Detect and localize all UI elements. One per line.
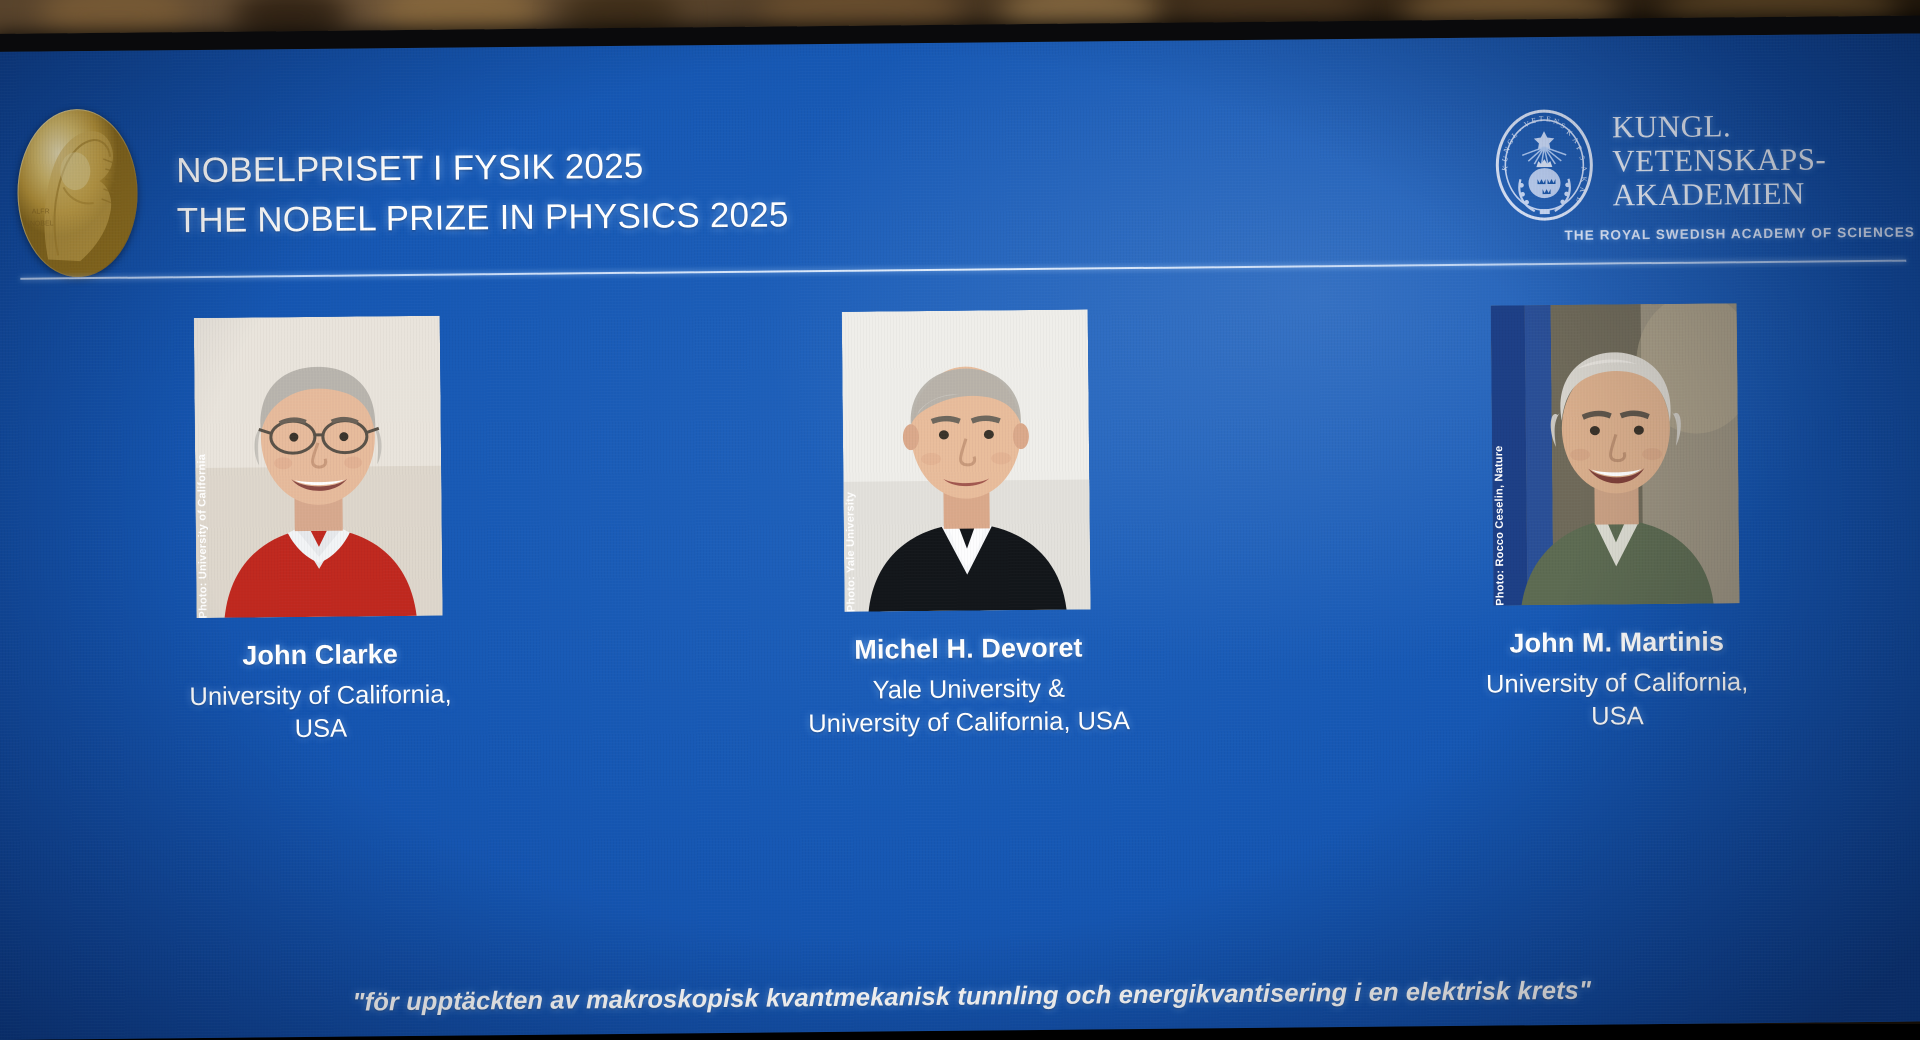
laureate-card: Photo: Rocco Ceselin, Nature John M. Mar… <box>1289 301 1920 736</box>
title-english: THE NOBEL PRIZE IN PHYSICS 2025 <box>177 190 789 246</box>
laureate-name: Michel H. Devoret <box>854 633 1083 666</box>
header-divider <box>20 260 1906 280</box>
academy-name-line1: KUNGL. <box>1612 108 1826 144</box>
laureate-affiliation-line2: USA <box>190 712 452 748</box>
svg-text:N: N <box>1552 116 1560 126</box>
academy-name-line2: VETENSKAPS- <box>1612 142 1826 178</box>
slide-title: NOBELPRISET I FYSIK 2025 THE NOBEL PRIZE… <box>176 140 789 246</box>
display-screen: ALFR NOBEL NOBELPRISET I FYSIK 2025 THE … <box>0 15 1920 1034</box>
photo-credit: Photo: University of California <box>192 318 213 618</box>
laureate-affiliation: Yale University & University of Californ… <box>808 672 1130 741</box>
slide-header: ALFR NOBEL NOBELPRISET I FYSIK 2025 THE … <box>0 33 1920 282</box>
laureates-row: Photo: University of California John Cla… <box>0 301 1920 749</box>
svg-text:K: K <box>1500 164 1510 172</box>
presentation-slide: ALFR NOBEL NOBELPRISET I FYSIK 2025 THE … <box>0 33 1920 1040</box>
academy-logo: K U N G L . V E T E N S <box>1494 106 1916 270</box>
svg-text:T: T <box>1539 114 1544 123</box>
nobel-medal-icon: ALFR NOBEL <box>17 109 139 278</box>
academy-subtitle: THE ROYAL SWEDISH ACADEMY OF SCIENCES <box>1495 225 1915 244</box>
svg-text:K: K <box>1579 176 1588 182</box>
laureate-name: John M. Martinis <box>1509 626 1724 659</box>
laureate-photo-wrap: Photo: Yale University <box>842 309 1091 611</box>
svg-text:A: A <box>1579 165 1589 173</box>
photo-credit-text: Photo: Rocco Ceselin, Nature <box>1493 443 1507 605</box>
title-swedish: NOBELPRISET I FYSIK 2025 <box>176 140 788 196</box>
laureate-photo-wrap: Photo: University of California <box>194 316 443 618</box>
laureate-affiliation-line2: USA <box>1486 699 1748 735</box>
svg-text:V: V <box>1523 119 1532 129</box>
laureate-photo-wrap: Photo: Rocco Ceselin, Nature <box>1490 303 1739 605</box>
laureate-affiliation-line2: University of California, USA <box>808 705 1130 741</box>
laureate-portrait <box>1490 303 1739 605</box>
royal-swedish-academy-seal-icon: K U N G L . V E T E N S <box>1494 109 1595 222</box>
photo-credit-text: Photo: Yale University <box>845 489 858 611</box>
svg-text:U: U <box>1500 154 1511 163</box>
academy-name-line3: AKADEMIEN <box>1612 176 1826 212</box>
laureate-portrait <box>194 316 443 618</box>
laureate-card: Photo: Yale University Michel H. Devoret… <box>641 308 1293 743</box>
laureate-affiliation-line1: University of California, <box>189 679 451 715</box>
svg-text:E: E <box>1531 116 1537 126</box>
svg-text:NOBEL: NOBEL <box>30 220 54 227</box>
photo-credit: Photo: Yale University <box>840 312 861 612</box>
photo-credit-text: Photo: University of California <box>196 451 210 618</box>
academy-name: KUNGL. VETENSKAPS- AKADEMIEN <box>1612 106 1827 212</box>
laureate-affiliation-line1: University of California, <box>1486 666 1748 702</box>
svg-text:A: A <box>1578 186 1588 193</box>
svg-text:E: E <box>1546 114 1552 124</box>
svg-text:D: D <box>1574 196 1584 204</box>
citation-swedish: "för upptäckten av makroskopisk kvantmek… <box>0 973 1920 1021</box>
laureate-affiliation: University of California, USA <box>189 679 452 748</box>
svg-text:S: S <box>1559 121 1567 131</box>
laureate-card: Photo: University of California John Cla… <box>0 314 645 749</box>
laureate-affiliation: University of California, USA <box>1486 666 1749 735</box>
svg-text:ALFR: ALFR <box>32 208 50 215</box>
citation-english: "for the discovery of macroscopic quantu… <box>0 1028 1920 1040</box>
prize-citation: "för upptäckten av makroskopisk kvantmek… <box>0 973 1920 1040</box>
laureate-portrait <box>842 309 1091 611</box>
photo-credit: Photo: Rocco Ceselin, Nature <box>1488 305 1509 605</box>
laureate-name: John Clarke <box>242 639 398 671</box>
svg-text:P: P <box>1574 144 1584 153</box>
laureate-affiliation-line1: Yale University & <box>808 672 1130 708</box>
